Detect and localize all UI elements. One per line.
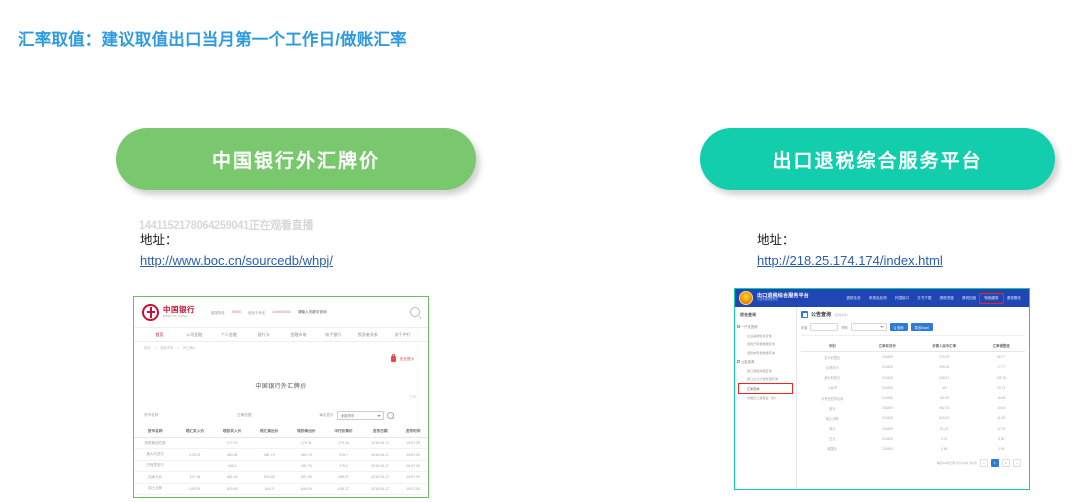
cell: 港元 — [801, 424, 864, 434]
boc-filter-label-pagesize: 每页显示 — [319, 413, 333, 418]
cell: 巴西里亚尔 — [134, 460, 176, 471]
cell: 马来西亚林吉特 — [801, 393, 864, 403]
boc-top-link[interactable]: 95566 — [232, 310, 241, 314]
boc-brand-cn: 中国银行 — [163, 306, 195, 314]
cell: 500.65 — [251, 472, 288, 483]
cell: 177.19 — [213, 438, 250, 449]
tax-currency-select[interactable] — [851, 323, 887, 331]
boc-address-link[interactable]: http://www.boc.cn/sourcedb/whpj/ — [140, 251, 333, 271]
tax-sidebar-item[interactable]: 税口退税政策查询 — [737, 366, 794, 375]
breadcrumb-sep: > — [154, 346, 156, 350]
cell: 3.09 — [977, 444, 1025, 454]
cell: 478.23 — [176, 449, 213, 460]
cell: 澳大利亚元 — [801, 373, 864, 383]
table-row: 意大利里拉 201805 479.25 56.77 — [801, 352, 1025, 363]
tax-sidebar-item[interactable]: 企业基础信息查询 — [737, 331, 794, 340]
tax-nav-item[interactable]: 外围接口 — [891, 294, 913, 303]
table-row: 港元 201805 81.24 12.78 — [801, 424, 1025, 434]
cell: 0.58 — [911, 444, 977, 454]
column-header: 中行折算价 — [325, 426, 362, 438]
cell: 463.35 — [213, 449, 250, 460]
boc-rate-table: 货币名称 现汇买入价 现钞买入价 现汇卖出价 现钞卖出价 中行折算价 发布日期 … — [134, 426, 428, 495]
cell — [251, 438, 288, 449]
table-header-row: 币别 汇率年月份 折算人民币汇率 汇率调整值 — [801, 340, 1025, 352]
boc-top-link[interactable]: 请输入关键字查询 — [298, 310, 327, 315]
table-row: 新元 201805 562.76 153.8 — [801, 403, 1025, 413]
cell: 201805 — [864, 373, 911, 383]
column-header: 折算人民币汇率 — [911, 340, 977, 352]
tax-sidebar: 综合查询 一户式查询 企业基础信息查询 退税已申报数据查询 退税未申报数据查询 … — [735, 307, 797, 489]
tax-sidebar-group[interactable]: 一户式查询 — [737, 322, 794, 331]
tax-emblem-icon — [739, 291, 753, 305]
tax-panel-title: 公告查询 — [811, 311, 831, 318]
tax-nav-bar: 退税业务 申报及反馈 外围接口 文书下载 退税进度 退税回函 特色服务 退税服务 — [813, 294, 1025, 303]
cell: 646.09 — [288, 483, 325, 494]
tax-nav-item[interactable]: 申报及反馈 — [865, 294, 891, 303]
column-header: 现钞卖出价 — [288, 426, 325, 438]
cell: 643.3 — [251, 483, 288, 494]
table-row: 阿联酋迪拉姆 177.19 179.31 173.16 2018-05-17 1… — [134, 438, 428, 449]
search-icon[interactable] — [410, 307, 420, 317]
cell: 2018-05-17 — [362, 438, 398, 449]
cell: 501.99 — [288, 472, 325, 483]
cell: 77.77 — [977, 362, 1025, 372]
cell: 497.18 — [176, 472, 213, 483]
cell: 166.2 — [213, 460, 250, 471]
cell: 29.71 — [977, 383, 1025, 393]
cell: 日元 — [801, 434, 864, 444]
cell: 11.28 — [977, 413, 1025, 423]
column-header: 现汇买入价 — [176, 426, 213, 438]
boc-nav-item[interactable]: 投资者关系 — [351, 332, 386, 338]
tax-nav-item[interactable]: 退税回函 — [958, 294, 980, 303]
boc-print-link[interactable]: 打印 — [134, 394, 428, 407]
boc-nav-item[interactable]: 电子银行 — [316, 332, 351, 338]
cell: 201805 — [864, 413, 911, 423]
tax-sidebar-title: 综合查询 — [737, 310, 794, 322]
tax-page-prev[interactable]: « — [980, 459, 988, 467]
cell: 201805 — [864, 362, 911, 372]
tax-nav-item[interactable]: 退税业务 — [842, 294, 864, 303]
boc-pill-button[interactable]: 中国银行外汇牌价 — [116, 128, 476, 190]
cell: 201805 — [864, 352, 911, 363]
column-header: 现钞买入价 — [213, 426, 250, 438]
table-row: 澳大利亚元 478.23 463.35 481.72 482.78 478.7 … — [134, 449, 428, 460]
boc-filter-row: 货币名称 日期范围 每页显示 全部货币 — [134, 407, 428, 426]
boc-filter-label-date: 日期范围 — [237, 413, 319, 418]
cell: 瑞士法郎 — [801, 413, 864, 423]
cell: 15:57:39 — [398, 449, 428, 460]
cell: 15:57:39 — [398, 472, 428, 483]
cell: 56.77 — [977, 352, 1025, 363]
boc-nav-bar: 首页 公司金融 个人金融 银行卡 金融市场 电子银行 投资者关系 关于中行 — [134, 327, 428, 342]
column-header: 货币名称 — [134, 426, 176, 438]
tax-header-bar: 出口退税综合服务平台 大连市国家税务局 退税业务 申报及反馈 外围接口 文书下载… — [735, 289, 1029, 307]
boc-address-block: 地址： http://www.boc.cn/sourcedb/whpj/ — [140, 231, 333, 270]
cell: 澳大利亚元 — [134, 449, 176, 460]
column-header: 发布时间 — [398, 426, 428, 438]
boc-filter-label-currency: 货币名称 — [144, 413, 237, 418]
lock-icon — [391, 356, 396, 362]
table-row: 加拿大元 497.18 481.99 500.65 501.99 498.07 … — [134, 472, 428, 483]
table-row: 巴西里亚尔 166.2 181.79 175.2 2018-05-17 15:5… — [134, 460, 428, 471]
cell: 2018-05-17 — [362, 472, 398, 483]
boc-logo: 中国银行 BANK OF CHINA — [142, 304, 195, 321]
search-icon[interactable] — [387, 412, 394, 419]
tax-nav-item[interactable]: 退税服务 — [1003, 294, 1025, 303]
tax-nav-item[interactable]: 文书下载 — [913, 294, 935, 303]
tax-query-form: 年度 币别 Q 查询 导出Excel — [801, 321, 1025, 336]
cell: 479.25 — [911, 352, 977, 363]
boc-nav-item[interactable]: 银行卡 — [246, 332, 281, 338]
table-header-row: 货币名称 现汇买入价 现钞买入价 现汇卖出价 现钞卖出价 中行折算价 发布日期 … — [134, 426, 428, 438]
table-row: 韩国元 201805 0.58 3.09 — [801, 444, 1025, 454]
cell: 173.16 — [325, 438, 362, 449]
tax-pagination: 每页10条记录 共计10条 共1页 « 1 2 » — [801, 454, 1025, 467]
cell: 643.30 — [911, 413, 977, 423]
cell: 韩国元 — [801, 444, 864, 454]
cell: 12.78 — [977, 424, 1025, 434]
cell: 5.74 — [911, 434, 977, 444]
cell: 201805 — [864, 444, 911, 454]
table-row: 台湾币元 201805 495.16 77.77 — [801, 362, 1025, 372]
cell: 201805 — [864, 434, 911, 444]
tax-export-button[interactable]: 导出Excel — [911, 323, 933, 331]
cell: 2018-05-17 — [362, 449, 398, 460]
cell: 481.72 — [251, 449, 288, 460]
cell: 495.16 — [911, 362, 977, 372]
cell: 台湾币元 — [801, 362, 864, 372]
tax-screenshot: 出口退税综合服务平台 大连市国家税务局 退税业务 申报及反馈 外围接口 文书下载… — [734, 288, 1030, 490]
tax-address-link[interactable]: http://218.25.174.174/index.html — [757, 251, 943, 271]
tax-form-label-currency: 币别 — [841, 325, 847, 330]
column-header: 汇率调整值 — [977, 340, 1025, 352]
breadcrumb: 首页 > 金融市场 > 外汇牌价 — [134, 342, 428, 353]
document-icon — [801, 311, 808, 318]
cell: 639.04 — [176, 483, 213, 494]
tax-sidebar-item[interactable]: 退税未申报数据查询 — [737, 348, 794, 357]
tax-page-current[interactable]: 1 — [991, 459, 999, 467]
table-row: 澳大利亚元 201805 638.11 195.26 — [801, 373, 1025, 383]
tax-page-next[interactable]: » — [1013, 459, 1021, 467]
cell: 15:57:39 — [398, 483, 428, 494]
boc-notice-text[interactable]: 安全提示 — [400, 357, 414, 362]
tax-sidebar-item[interactable]: 退税已申报数据查询 — [737, 340, 794, 349]
cell: 15:57:39 — [398, 438, 428, 449]
tax-sidebar-item[interactable]: 中国出口退税证（办）... — [737, 394, 794, 403]
cell: 2018-05-17 — [362, 460, 398, 471]
table-row: 马来西亚林吉特 201805 162.39 18.88 — [801, 393, 1025, 403]
cell: 181.79 — [288, 460, 325, 471]
cell: 201805 — [864, 424, 911, 434]
tax-sidebar-group[interactable]: 公告查询 — [737, 357, 794, 366]
cell: 619.48 — [213, 483, 250, 494]
table-row: 瑞士法郎 639.04 619.48 643.3 646.09 636.27 2… — [134, 483, 428, 494]
cell: 478.7 — [325, 449, 362, 460]
table-row: 瑞士法郎 201805 643.30 11.28 — [801, 413, 1025, 423]
cell: 加拿大元 — [134, 472, 176, 483]
tax-brand: 出口退税综合服务平台 大连市国家税务局 — [757, 294, 809, 303]
cell: 153.8 — [977, 403, 1025, 413]
cell: 意大利里拉 — [801, 352, 864, 363]
boc-notice-row: 安全提示 — [134, 353, 428, 365]
breadcrumb-item: 外汇牌价 — [183, 345, 196, 350]
tax-form-label-year: 年度 — [801, 325, 807, 330]
tax-page-2[interactable]: 2 — [1002, 459, 1010, 467]
column-header: 汇率年月份 — [864, 340, 911, 352]
tax-sidebar-item[interactable]: 税口企业分类管理查询 — [737, 374, 794, 383]
column-header: 现汇卖出价 — [251, 426, 288, 438]
breadcrumb-sep: > — [177, 346, 179, 350]
tax-year-input[interactable] — [810, 323, 838, 331]
slide-root: 汇率取值：建议取值出口当月第一个工作日/做账汇率 中国银行外汇牌价 144115… — [0, 0, 1080, 502]
boc-nav-item[interactable]: 公司金融 — [177, 332, 212, 338]
tax-address-label: 地址： — [757, 231, 943, 250]
cell — [176, 460, 213, 471]
boc-top-links: 客服热线 95566 信用卡专线 4006695566 请输入关键字查询 — [211, 310, 410, 315]
boc-currency-select[interactable]: 全部货币 — [337, 411, 384, 420]
cell: 179.31 — [288, 438, 325, 449]
cell: 人民币 — [801, 383, 864, 393]
tax-panel-title-row: 公告查询 (查询条件) — [801, 310, 1025, 321]
table-row: 日元 201805 5.74 8.26 — [801, 434, 1025, 444]
boc-screenshot: 中国银行 BANK OF CHINA 客服热线 95566 信用卡专线 4006… — [133, 296, 429, 498]
cell: 482.78 — [288, 449, 325, 460]
tax-main-panel: 公告查询 (查询条件) 年度 币别 Q 查询 导出Excel 币别 汇率年月 — [797, 307, 1029, 489]
cell: 201805 — [864, 383, 911, 393]
tax-panel-subtitle: (查询条件) — [834, 313, 848, 317]
tax-nav-item-highlighted[interactable]: 特色服务 — [980, 294, 1002, 303]
cell: 8.26 — [977, 434, 1025, 444]
tax-sidebar-item-highlighted[interactable]: 汇率查询 — [739, 384, 792, 393]
cell: 638.11 — [911, 373, 977, 383]
boc-nav-item[interactable]: 首页 — [142, 332, 177, 338]
breadcrumb-item[interactable]: 首页 — [144, 345, 150, 350]
boc-nav-item[interactable]: 关于中行 — [385, 332, 420, 338]
cell: 175.2 — [325, 460, 362, 471]
boc-brand-en: BANK OF CHINA — [163, 315, 195, 318]
cell: 195.26 — [977, 373, 1025, 383]
cell: 562.76 — [911, 403, 977, 413]
cell: 201805 — [864, 403, 911, 413]
column-header: 币别 — [801, 340, 864, 352]
cell: 瑞士法郎 — [134, 483, 176, 494]
tax-brand-sub: 大连市国家税务局 — [757, 299, 809, 302]
table-row: 人民币 201805 100 29.71 — [801, 383, 1025, 393]
tax-address-block: 地址： http://218.25.174.174/index.html — [757, 231, 943, 270]
cell: 81.24 — [911, 424, 977, 434]
breadcrumb-item[interactable]: 金融市场 — [160, 345, 173, 350]
tax-nav-item[interactable]: 退税进度 — [936, 294, 958, 303]
boc-top-link[interactable]: 信用卡专线 — [248, 310, 265, 315]
cell: 新元 — [801, 403, 864, 413]
cell: 100 — [911, 383, 977, 393]
boc-nav-item[interactable]: 金融市场 — [281, 332, 316, 338]
cell: 2018-05-17 — [362, 483, 398, 494]
tax-body: 综合查询 一户式查询 企业基础信息查询 退税已申报数据查询 退税未申报数据查询 … — [735, 307, 1029, 489]
cell: 481.99 — [213, 472, 250, 483]
cell: 498.07 — [325, 472, 362, 483]
boc-page-heading: 中国银行外汇牌价 — [134, 365, 428, 394]
cell — [251, 460, 288, 471]
boc-top-bar: 中国银行 BANK OF CHINA 客服热线 95566 信用卡专线 4006… — [134, 297, 428, 327]
page-title: 汇率取值：建议取值出口当月第一个工作日/做账汇率 — [18, 26, 407, 50]
cell: 15:57:39 — [398, 460, 428, 471]
tax-pill-button[interactable]: 出口退税综合服务平台 — [700, 128, 1055, 190]
boc-address-label: 地址： — [140, 231, 333, 250]
tax-rate-table: 币别 汇率年月份 折算人民币汇率 汇率调整值 意大利里拉 201805 479.… — [801, 340, 1025, 454]
boc-emblem-icon — [142, 304, 159, 321]
cell: 636.27 — [325, 483, 362, 494]
column-header: 发布日期 — [362, 426, 398, 438]
cell: 阿联酋迪拉姆 — [134, 438, 176, 449]
cell — [176, 438, 213, 449]
cell: 18.88 — [977, 393, 1025, 403]
tax-query-button[interactable]: Q 查询 — [890, 323, 908, 331]
cell: 162.39 — [911, 393, 977, 403]
boc-top-link[interactable]: 4006695566 — [272, 310, 291, 314]
tax-pager-info: 每页10条记录 共计10条 共1页 — [937, 461, 977, 465]
boc-nav-item[interactable]: 个人金融 — [212, 332, 247, 338]
boc-top-link[interactable]: 客服热线 — [211, 310, 225, 315]
cell: 201805 — [864, 393, 911, 403]
